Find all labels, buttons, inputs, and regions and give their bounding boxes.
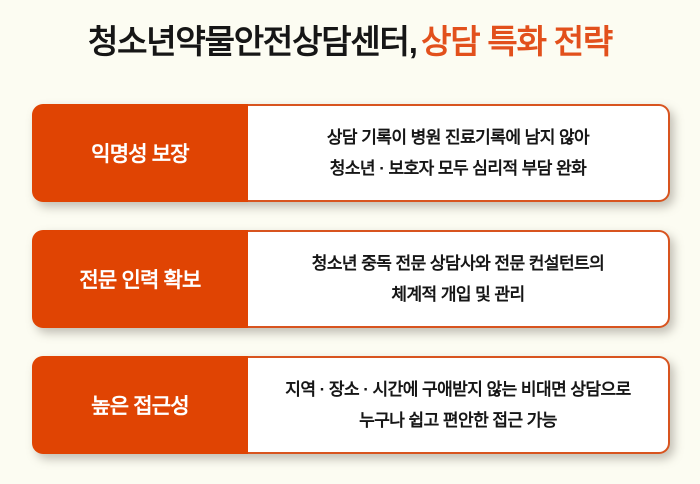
strategy-content-block-1: 상담 기록이 병원 진료기록에 남지 않아 청소년 · 보호자 모두 심리적 부… <box>248 104 670 202</box>
strategy-row-1: 익명성 보장 상담 기록이 병원 진료기록에 남지 않아 청소년 · 보호자 모… <box>32 104 670 202</box>
strategy-label-text-1: 익명성 보장 <box>91 138 189 168</box>
strategy-label-text-2: 전문 인력 확보 <box>79 264 200 294</box>
strategy-content-line: 청소년 · 보호자 모두 심리적 부담 완화 <box>330 153 587 184</box>
strategy-content-line: 청소년 중독 전문 상담사와 전문 컨설턴트의 <box>312 248 605 279</box>
strategy-list: 익명성 보장 상담 기록이 병원 진료기록에 남지 않아 청소년 · 보호자 모… <box>32 104 670 454</box>
page-title: 청소년약물안전상담센터, 상담 특화 전략 <box>0 22 700 62</box>
strategy-label-block-1: 익명성 보장 <box>32 104 248 202</box>
strategy-label-block-2: 전문 인력 확보 <box>32 230 248 328</box>
strategy-label-block-3: 높은 접근성 <box>32 356 248 454</box>
strategy-content-block-3: 지역 · 장소 · 시간에 구애받지 않는 비대면 상담으로 누구나 쉽고 편안… <box>248 356 670 454</box>
strategy-content-line: 상담 기록이 병원 진료기록에 남지 않아 <box>327 122 589 153</box>
strategy-content-block-2: 청소년 중독 전문 상담사와 전문 컨설턴트의 체계적 개입 및 관리 <box>248 230 670 328</box>
page-title-accent: 상담 특화 전략 <box>421 23 612 60</box>
strategy-content-line: 누구나 쉽고 편안한 접근 가능 <box>359 405 557 436</box>
page-title-main: 청소년약물안전상담센터, <box>88 23 417 60</box>
strategy-row-3: 높은 접근성 지역 · 장소 · 시간에 구애받지 않는 비대면 상담으로 누구… <box>32 356 670 454</box>
strategy-content-line: 체계적 개입 및 관리 <box>391 279 524 310</box>
strategy-row-2: 전문 인력 확보 청소년 중독 전문 상담사와 전문 컨설턴트의 체계적 개입 … <box>32 230 670 328</box>
strategy-label-text-3: 높은 접근성 <box>91 390 189 420</box>
strategy-content-line: 지역 · 장소 · 시간에 구애받지 않는 비대면 상담으로 <box>285 374 630 405</box>
